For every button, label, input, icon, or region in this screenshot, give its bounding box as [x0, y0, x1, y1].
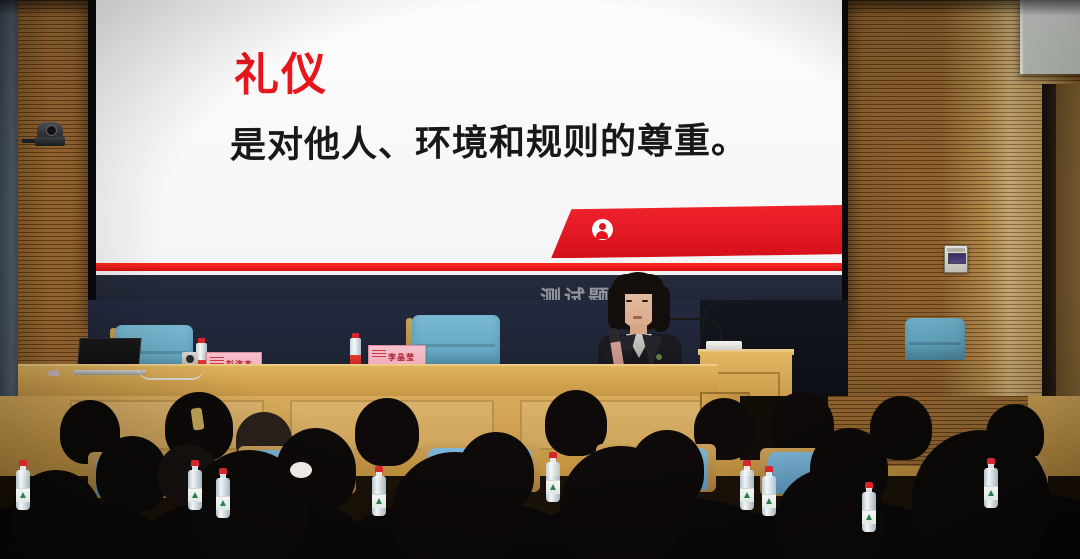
- bottle-label: [762, 494, 776, 508]
- presenter-eye-left: [626, 300, 632, 302]
- desk-cable: [138, 368, 204, 380]
- laptop-base: [74, 370, 146, 375]
- presenter-eye-right: [642, 300, 648, 302]
- podium-device[interactable]: [706, 341, 742, 350]
- presenter-hair-right: [652, 286, 670, 332]
- bottle-label: [546, 480, 560, 494]
- audience-head: [560, 446, 682, 559]
- presenter-hair-left: [608, 286, 625, 330]
- presenter-lapel-pin: [656, 354, 662, 360]
- bottle-label: [862, 510, 876, 524]
- ptz-camera-icon: [35, 122, 65, 148]
- lecture-hall-scene: 礼仪 是对他人、环境和规则的尊重。 测试题: [0, 0, 1080, 559]
- camera-lens: [46, 125, 57, 136]
- bottle-label: [984, 486, 998, 500]
- wall-control-panel-icon[interactable]: [944, 245, 968, 273]
- nameplate-name: 李晶莹: [388, 352, 415, 363]
- mouse[interactable]: [48, 370, 60, 376]
- bottle-label: [372, 494, 386, 508]
- projection-screen: 礼仪 是对他人、环境和规则的尊重。 测试题: [96, 0, 842, 320]
- bottle-label: [16, 488, 30, 502]
- door-panel[interactable]: [1056, 84, 1080, 410]
- audience-head: [912, 430, 1050, 559]
- slide-subtitle: 是对他人、环境和规则的尊重。: [230, 112, 748, 169]
- camera-base: [35, 137, 65, 146]
- hair-accessory: [290, 462, 312, 478]
- stage-chair[interactable]: [905, 318, 965, 360]
- bottle-label: [740, 488, 754, 502]
- slide-red-divider: [96, 263, 842, 271]
- panel-screen: [948, 253, 966, 264]
- slide-ribbon-banner: [551, 205, 842, 258]
- door-frame: [1042, 84, 1056, 410]
- bottle-label: [188, 488, 202, 502]
- nameplate-logo: [372, 350, 386, 359]
- person-icon: [592, 219, 613, 240]
- presenter-mouth: [633, 316, 642, 319]
- audience-head: [355, 398, 419, 466]
- bottle-label: [216, 496, 230, 510]
- slide-title: 礼仪: [234, 38, 328, 104]
- panel-cap: [947, 248, 965, 252]
